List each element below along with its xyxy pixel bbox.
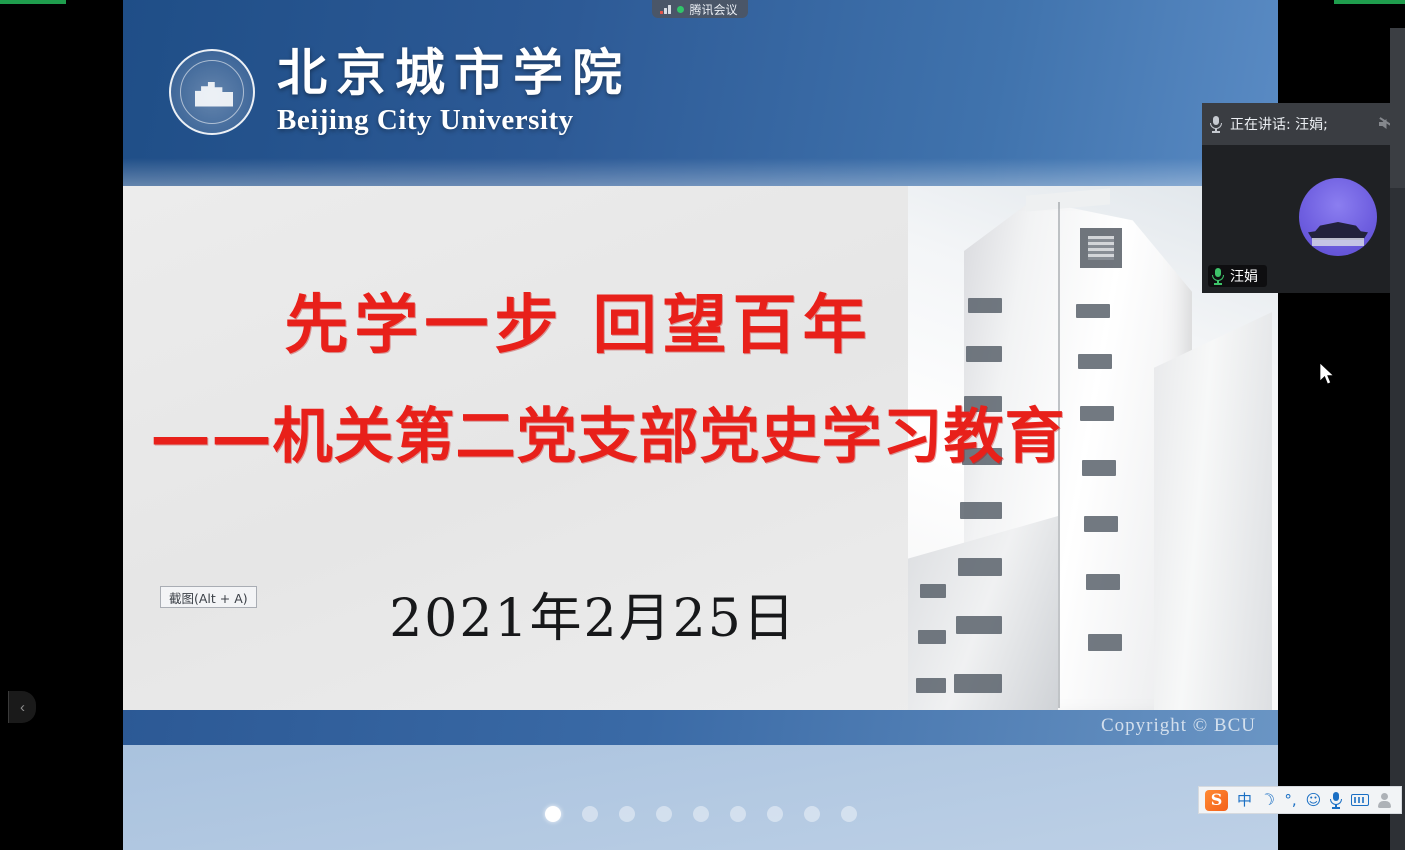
signal-bars-icon <box>660 4 671 14</box>
slide-title: 先学一步 回望百年 <box>181 274 976 366</box>
pagination-dot-6[interactable] <box>730 806 746 822</box>
top-accent-bar-right <box>1334 0 1405 4</box>
presentation-slide: 北京城市学院 Beijing City University <box>123 0 1278 745</box>
ime-moon-icon[interactable]: ☽ <box>1259 790 1278 810</box>
window <box>1080 406 1114 421</box>
microphone-active-icon <box>1212 268 1224 285</box>
window <box>956 616 1002 634</box>
university-name-en: Beijing City University <box>277 106 631 135</box>
window <box>1078 354 1112 369</box>
chevron-left-icon: ‹ <box>20 699 25 716</box>
pagination-dot-2[interactable] <box>582 806 598 822</box>
pagination-dot-3[interactable] <box>619 806 635 822</box>
window <box>916 678 946 693</box>
pagination-dot-7[interactable] <box>767 806 783 822</box>
pagination-dot-4[interactable] <box>656 806 672 822</box>
university-seal-icon <box>169 49 255 135</box>
tower-clock-face <box>1080 228 1122 268</box>
video-stage[interactable]: 汪娟 <box>1202 145 1405 293</box>
header-gradient-sheen <box>123 158 1278 186</box>
user-avatar <box>1299 178 1377 256</box>
window <box>1088 634 1122 651</box>
slide-date: 2021年2月25日 <box>243 576 943 651</box>
speaking-status-bar: 正在讲话: 汪娟; <box>1202 103 1405 145</box>
window <box>1082 460 1116 476</box>
green-status-dot <box>677 6 684 13</box>
ime-user-profile-icon[interactable] <box>1378 793 1395 808</box>
copyright-text: Copyright © BCU <box>1101 715 1256 737</box>
slide-body: 先学一步 回望百年 ——机关第二党支部党史学习教育 2021年2月25日 <box>123 186 1278 710</box>
window <box>954 674 1002 693</box>
participant-name: 汪娟 <box>1230 266 1258 286</box>
university-logo-text: 北京城市学院 Beijing City University <box>277 48 631 135</box>
ime-emoji-icon[interactable]: ☺ <box>1306 793 1322 808</box>
screenshot-tooltip: 截图(Alt + A) <box>160 586 257 608</box>
window <box>960 502 1002 519</box>
slide-subtitle: ——机关第二党支部党史学习教育 <box>143 388 1073 475</box>
window <box>958 558 1002 576</box>
speaking-label: 正在讲话: 汪娟; <box>1230 114 1328 134</box>
participant-video-panel[interactable]: 正在讲话: 汪娟; 汪娟 <box>1202 103 1405 293</box>
ime-microphone-icon[interactable] <box>1330 792 1342 809</box>
right-side-panel <box>1390 188 1405 850</box>
participant-name-badge: 汪娟 <box>1208 265 1267 287</box>
window <box>1076 304 1110 318</box>
microphone-icon <box>1210 116 1222 133</box>
sogou-logo-icon[interactable]: S <box>1205 790 1228 811</box>
right-toolbar-rail[interactable] <box>1390 28 1405 188</box>
mouse-pointer-icon <box>1320 363 1336 387</box>
window <box>1086 574 1120 590</box>
university-name-cn: 北京城市学院 <box>277 48 631 98</box>
pagination-dot-1[interactable] <box>545 806 561 822</box>
top-accent-bar-left <box>0 0 66 4</box>
pagination-dot-8[interactable] <box>804 806 820 822</box>
sogou-ime-toolbar[interactable]: S 中 ☽ °, ☺ <box>1198 786 1402 814</box>
slide-pagination[interactable] <box>123 806 1278 822</box>
window <box>1084 516 1118 532</box>
pagination-dot-5[interactable] <box>693 806 709 822</box>
collapse-panel-button[interactable]: ‹ <box>8 691 36 723</box>
slide-header-band: 北京城市学院 Beijing City University <box>123 0 1278 186</box>
pagination-dot-9[interactable] <box>841 806 857 822</box>
screen-root: 北京城市学院 Beijing City University <box>0 0 1405 850</box>
ime-language-mode-button[interactable]: 中 <box>1237 793 1252 808</box>
meeting-status-pill[interactable]: 腾讯会议 <box>652 0 748 18</box>
university-logo: 北京城市学院 Beijing City University <box>169 48 631 135</box>
tower-side-wing <box>1154 312 1272 710</box>
ime-punctuation-button[interactable]: °, <box>1284 793 1296 808</box>
meeting-app-label: 腾讯会议 <box>690 1 738 18</box>
shared-screen-area[interactable]: 北京城市学院 Beijing City University <box>123 0 1278 850</box>
ime-keyboard-icon[interactable] <box>1351 794 1369 806</box>
slide-footer-band: Copyright © BCU <box>123 710 1278 745</box>
